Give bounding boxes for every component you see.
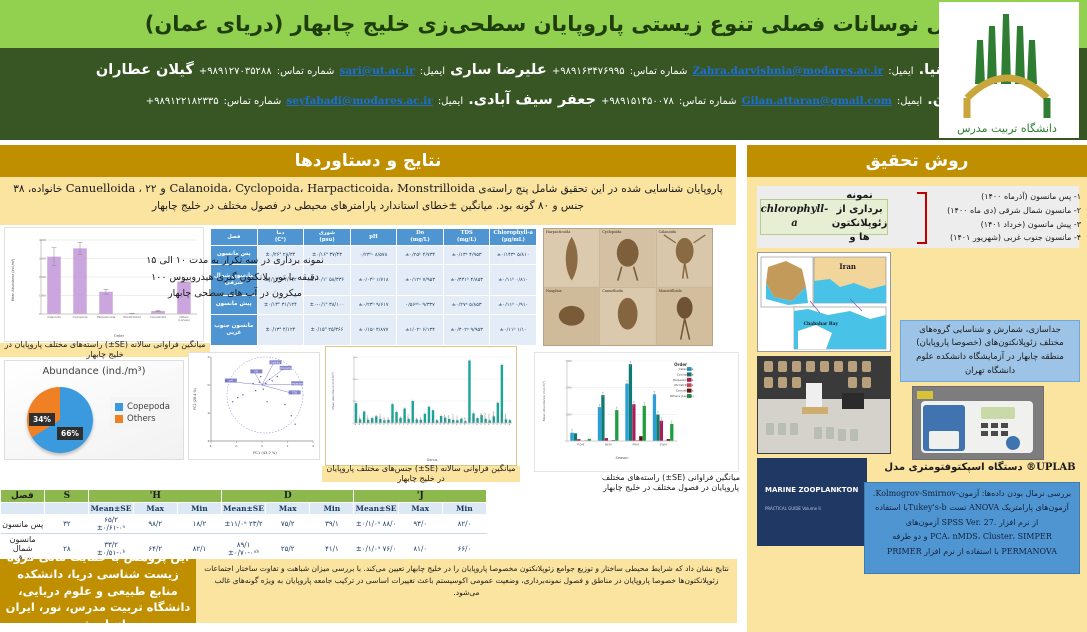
copepod-illustration-icon [600, 288, 655, 346]
table-row: ۱/۱۰ ±۰/۱۱ᵇ۹/۹۵۳ ±۰/۴۰۲ᵃ۶/۱۳۴ ±۱/۰۲ᶜ۴/۸۷… [211, 314, 537, 345]
copepod-micrograph-panel: Calanoida Cyclopoida Harpacticoida Mon [543, 228, 713, 346]
sampling-method-text: نمونه برداری در سه تکرار به مدت ۱۰ الی ۱… [140, 253, 330, 303]
svg-text:Candacia: Candacia [371, 418, 373, 425]
copepod-photo: Nauplius [544, 288, 599, 346]
pie-title: Abundance (ind./m³) [5, 366, 183, 377]
svg-text:Canuelloida: Canuelloida [150, 315, 166, 319]
lab-photo-svg [758, 357, 890, 453]
poster-root: تحلیل نوسانات فصلی تنوع زیستی پاروپایان … [0, 0, 1087, 632]
phone-label-3: شماره تماس: [679, 96, 737, 107]
copepod-illustration-icon [600, 229, 655, 287]
data-cell: ۳۲ [45, 515, 89, 534]
svg-text:2000: 2000 [566, 387, 573, 390]
column-sub-header: Min [177, 503, 221, 515]
copepod-photo: Calanoida [657, 229, 712, 287]
author-3-phone: ۹۸۹۱۵۱۴۵۰۰۷۸+ [601, 96, 674, 107]
svg-text:DO: DO [254, 370, 258, 373]
intro-orders-latin: Calanoida، Cyclopoida، Harpacticoida، Mo… [66, 181, 475, 195]
author-2-phone: ۹۸۹۱۲۷۰۳۵۲۸۸+ [199, 66, 272, 77]
author-4-name: جعفر سیف آبادی. [468, 92, 596, 108]
sampling-objective-text: نمونه برداری از زئوپلانکتون ها و [832, 189, 888, 245]
author-3-email[interactable]: Gilan.attaran@gmail.com [742, 95, 892, 107]
phone-label-1: شماره تماس: [630, 66, 688, 77]
data-cell: ۰/۹۱۰ ±۰/۱۱ᵇ [490, 296, 537, 315]
stats-software2-label: با استفاده از نرم افزار [924, 547, 999, 556]
author-2-name: علیرضا ساری [450, 62, 547, 78]
column-sub-header: Max [133, 503, 177, 515]
season-legend-title: Order [674, 362, 687, 367]
data-cell: ۹/۳۳۷ -۰/۵۶ᵃᵇ [397, 296, 444, 315]
svg-text:2: 2 [208, 355, 210, 359]
svg-text:Cyclopoida: Cyclopoida [73, 315, 88, 319]
svg-text:Harpacticoida: Harpacticoida [673, 378, 694, 382]
stats-test-label: تست [949, 503, 966, 512]
pca-svg: SalinityChlorophyllTemperatureTDSpHDO -4… [189, 353, 319, 459]
spectro-model: UPLAB® [1026, 462, 1075, 473]
season-item: ۲- مانسون شمال شرقی (دی ماه ۱۴۰۰) [931, 204, 1081, 218]
book-subtitle: PRACTICAL GUIDE Volume II [765, 506, 821, 511]
svg-text:Eucalanus: Eucalanus [387, 417, 389, 425]
svg-text:Nauplii: Nauplii [477, 419, 479, 425]
copepod-label: Nauplius [546, 289, 561, 293]
author-3-name: گیلان عطاران [96, 62, 194, 78]
column-sub-header: Max [266, 503, 310, 515]
data-cell: ۳۹/۱ [310, 515, 354, 534]
pca-xlabel: PC1 (43.2 %) [253, 451, 277, 455]
statistical-analysis-box: بررسی نرمال بودن داده‌ها: آزمون-Kolmogro… [864, 482, 1080, 574]
column-group-header: D [221, 490, 354, 503]
map-label-bay: Chabahar Bay [804, 322, 839, 327]
column-sub-header: Min [442, 503, 486, 515]
column-header: TDS(mg/L) [443, 229, 490, 246]
data-cell: ۵/۸۵۳ ±۰/۲۷ᵃ [443, 296, 490, 315]
data-cell: ۱/۱۰ ±۰/۱۱ᵇ [490, 314, 537, 345]
data-cell: ۱/۷۱۸ ±۰/۰۴ᵇ [350, 264, 397, 295]
svg-text:SWM: SWM [659, 443, 667, 447]
svg-text:-4: -4 [208, 439, 211, 443]
copepod-photo: Harpacticoida [544, 229, 599, 287]
stats-tukey: Tukey's-b [908, 501, 947, 515]
author-1-email[interactable]: Zahra.darvishnia@modares.ac.ir [692, 65, 883, 77]
copepod-illustration-icon [657, 229, 712, 287]
stats-twoway-label: و دو طرفه [892, 532, 927, 541]
discussion-box: نتایج نشان داد که شرایط محیطی ساختار و ت… [196, 559, 737, 623]
data-cell: ۷/۹۵۳ ±۰/۱۲ᵃ [397, 264, 444, 295]
author-1-phone: ۹۸۹۱۶۳۴۷۶۹۹۵+ [552, 66, 625, 77]
order-bar-caption: میانگین فراوانی سالانه (SE±) راسته‌های م… [0, 343, 210, 357]
stats-multivariate-tests: PCA، nMDS، Cluster، SIMPER [930, 530, 1052, 544]
data-cell: ۹/۹۵۳ ±۰/۴۰۲ᵃ [443, 314, 490, 345]
data-cell: ۹/۶۱۷ ±۰/۲۳ᵇ [350, 296, 397, 315]
svg-text:1500: 1500 [353, 357, 359, 359]
svg-text:Copilia: Copilia [436, 420, 438, 425]
copepod-photo: Canuelloida [600, 288, 655, 346]
author-2-email[interactable]: sari@ut.ac.ir [339, 65, 414, 77]
svg-text:pH: pH [229, 380, 233, 383]
stats-normality-test: Kolmogrov-Smirnov [875, 487, 955, 501]
svg-text:1000: 1000 [353, 379, 359, 381]
identification-method-box: جداسازی، شمارش و شناسایی گروه‌های مختلف … [900, 320, 1080, 382]
phone-label-4: شماره تماس: [224, 96, 282, 107]
legend-swatch-copepoda [115, 403, 123, 411]
svg-text:PRM: PRM [632, 443, 639, 447]
data-cell: ۴/۷۳۴ ±۰/۲۵ᵇ [397, 246, 444, 265]
data-cell: ۹۳/۰ [398, 515, 442, 534]
copepod-photo: Cyclopoida [600, 229, 655, 287]
data-cell: ۰/۸۱۰ ±۰/۱۱ᵇ [490, 264, 537, 295]
svg-text:Calanoida: Calanoida [679, 367, 694, 371]
data-cell: ۸۸/۰ ±۰/۱/۰ᵃ [354, 515, 398, 534]
genus-bar-svg: AcartiaAcrocalanusCalanopiaCalocalanusCa… [326, 347, 516, 465]
spectrophotometer-svg [913, 387, 1043, 459]
svg-text:Calocalanus: Calocalanus [367, 415, 369, 425]
spectrophotometer-caption: UPLAB® دستگاه اسپکتوفتومتری مدل [880, 462, 1080, 478]
data-cell: ۶/۱۳۴ ±۱/۰۲ᶜ [397, 314, 444, 345]
column-header: Chlorophyll-a(µg/mL) [490, 229, 537, 246]
legend-swatch-others [115, 415, 123, 423]
data-cell: ۹۸/۲ [133, 515, 177, 534]
pie-legend: Copepoda Others [110, 397, 175, 429]
svg-text:2: 2 [287, 444, 289, 448]
column-group-header: H' [89, 490, 222, 503]
legend-label-others: Others [127, 414, 156, 424]
email-label-4: ایمیل: [438, 96, 463, 107]
data-cell: ۴/۱۲۴ ±۰/۱۳ᵃ [257, 314, 304, 345]
svg-text:Longipedia: Longipedia [473, 416, 475, 425]
svg-text:1000: 1000 [566, 413, 573, 416]
copepod-illustration-icon [544, 229, 599, 287]
svg-text:-2: -2 [235, 444, 238, 448]
legend-item-others: Others [115, 414, 170, 424]
column-sub-header: Mean±SE [89, 503, 133, 515]
stats-primer: PRIMER [887, 545, 922, 559]
abundance-pie-chart: Abundance (ind./m³) 34% 66% Copepoda Oth… [4, 360, 184, 460]
seasons-list: ۱- پس مانسون (آذرماه ۱۴۰۰) ۲- مانسون شما… [931, 190, 1081, 245]
svg-text:Temperature: Temperature [290, 382, 306, 385]
book-title: MARINE ZOOPLANKTON [765, 486, 858, 495]
copepod-photo: Monstrilloida [657, 288, 712, 346]
svg-text:4: 4 [312, 444, 314, 448]
data-cell: ۴/۸۵۳ ±۰/۴۴۱ᵇ [443, 264, 490, 295]
svg-text:Cyclopoida: Cyclopoida [677, 372, 694, 376]
season-cell: مانسون جنوب غربی [211, 314, 258, 345]
genus-bar-ylabel: Mean abundance (ind./m³) [331, 372, 335, 409]
svg-text:Calanopia: Calanopia [363, 417, 365, 425]
logo-icon: دانشگاه تربیت مدرس [941, 6, 1073, 138]
copepod-illustration-icon [657, 288, 712, 346]
season-bar-xlabel: Season [615, 456, 628, 460]
svg-text:4000: 4000 [39, 238, 46, 242]
phone-label-2: شماره تماس: [277, 66, 335, 77]
pca-biplot-chart: SalinityChlorophyllTemperatureTDSpHDO -4… [188, 352, 320, 460]
svg-text:Monstrilloida: Monstrilloida [674, 383, 693, 387]
svg-text:دانشگاه تربیت مدرس: دانشگاه تربیت مدرس [957, 122, 1057, 135]
svg-text:Chlorophyll: Chlorophyll [279, 367, 293, 370]
season-item: ۳- پیش مانسون (خرداد ۱۴۰۱) [931, 218, 1081, 232]
svg-text:0: 0 [208, 383, 210, 387]
stats-anova: ANOVA [969, 501, 999, 515]
svg-text:Canuelloida: Canuelloida [676, 389, 694, 393]
map-label-iran: Iran [839, 262, 856, 271]
copepod-illustration-icon [544, 288, 599, 346]
study-area-map: Iran Chabahar Bay [757, 252, 891, 352]
svg-text:Calanoida: Calanoida [47, 315, 61, 319]
svg-text:TDS: TDS [292, 391, 297, 394]
table-header-row: Chlorophyll-a(µg/mL)TDS(mg/L)Do(mg/L)pHش… [211, 229, 537, 246]
svg-text:1000: 1000 [39, 294, 46, 298]
copepod-label: Monstrilloida [659, 289, 682, 293]
diversity-indices-table: J'DH'Sفصل MinMaxMean±SEMinMaxMean±SEMinM… [0, 489, 487, 557]
data-cell: ۸/۵۷۸ -۰/۲۳ᵇ [350, 246, 397, 265]
season-order-bar-chart: POMNEMPRMSWM 0100020003000 CalanoidaCycl… [534, 352, 739, 472]
svg-text:3000: 3000 [39, 257, 46, 261]
season-cell: پس مانسون [1, 515, 45, 534]
data-cell: ۴/۹۵۳ ±۰/۱۳ᵃ [443, 246, 490, 265]
order-bar-xlabel: Order [114, 334, 125, 338]
brace-connector [917, 192, 927, 244]
page-title: تحلیل نوسانات فصلی تنوع زیستی پاروپایان … [60, 4, 1070, 46]
column-group-header: فصل [1, 490, 45, 503]
laboratory-photo [757, 356, 891, 454]
data-cell: ۲۵/۳۶۶ ±۰/۱۵ᵈ [304, 314, 351, 345]
genus-bar-caption: میانگین فراوانی سالانه (SE±) جنس‌های مخت… [322, 466, 520, 482]
svg-text:Harpacticoida: Harpacticoida [97, 315, 116, 319]
column-header: Do(mg/L) [397, 229, 444, 246]
season-bar-caption: میانگین فراوانی (SE±) راسته‌های مختلف پا… [596, 472, 746, 494]
svg-text:3000: 3000 [566, 360, 573, 363]
authors-line-1: زهرا درویش نیا. ایمیل: Zahra.darvishnia@… [60, 62, 1070, 78]
table-row: ۸۲/۰۹۳/۰۸۸/۰ ±۰/۱/۰ᵃ۳۹/۱۷۵/۲۲۳/۲ ±۱۱/۰ᵃ۱… [1, 515, 487, 534]
author-4-email[interactable]: seyfabadi@modares.ac.ir [286, 95, 432, 107]
email-label-3: ایمیل: [897, 96, 922, 107]
column-sub-header: Mean±SE [354, 503, 398, 515]
copepod-label: Cyclopoida [602, 230, 621, 234]
stats-spss: SPSS Ver. 27. [942, 516, 997, 530]
copepod-label: Harpacticoida [546, 230, 570, 234]
copepod-label: Canuelloida [602, 289, 622, 293]
spectro-caption-text: دستگاه اسپکتوفتومتری مدل [884, 462, 1022, 473]
svg-text:Oncaea: Oncaea [428, 419, 430, 425]
data-cell: ۵/۸۱۰ ±۰/۱۴۳ᵃ [490, 246, 537, 265]
genus-abundance-bar-chart: AcartiaAcrocalanusCalanopiaCalocalanusCa… [325, 346, 517, 466]
sampling-objective-latin: chlorophyll-a [761, 203, 829, 231]
pie-label-others: 34% [29, 413, 55, 426]
column-group-header: J' [354, 490, 487, 503]
svg-text:-2: -2 [208, 411, 211, 415]
column-sub-header: Max [398, 503, 442, 515]
svg-text:NEM: NEM [605, 443, 612, 447]
email-label-1: ایمیل: [888, 66, 913, 77]
column-sub-header [1, 503, 45, 515]
stats-normality-label: بررسی نرمال بودن داده‌ها: آزمون- [956, 489, 1071, 498]
svg-text:(Larvae): (Larvae) [178, 318, 189, 322]
season-bar-ylabel: Mean Abundance (ind./m³) [542, 381, 546, 421]
svg-text:-4: -4 [210, 444, 213, 448]
svg-text:Monstrilloida: Monstrilloida [123, 315, 141, 319]
stats-permanova: PERMANOVA [1001, 545, 1057, 559]
results-section-header: نتایج و دستاوردها [0, 145, 736, 177]
table-group-header-row: J'DH'Sفصل [1, 490, 487, 503]
reference-book-cover: MARINE ZOOPLANKTON PRACTICAL GUIDE Volum… [757, 458, 867, 546]
data-cell: ۸۲/۰ [442, 515, 486, 534]
order-bar-ylabel: Mean Abundance (ind./m³) [11, 259, 15, 302]
university-logo: دانشگاه تربیت مدرس [939, 2, 1079, 138]
column-sub-header: Mean±SE [221, 503, 265, 515]
data-cell: ۲۳/۲ ±۱۱/۰ᵃ [221, 515, 265, 534]
svg-text:Fish eggs: Fish eggs [497, 417, 499, 425]
spectrophotometer-photo [912, 386, 1044, 460]
pie-label-copepoda: 66% [57, 427, 83, 440]
svg-text:Others (Larvae): Others (Larvae) [670, 394, 694, 398]
column-header: pH [350, 229, 397, 246]
sampling-objective-label: نمونه برداری از زئوپلانکتون ها و chlorop… [760, 199, 888, 235]
intro-paragraph: پاروپایان شناسایی شده در این تحقیق شامل … [0, 177, 736, 225]
column-sub-header: Min [310, 503, 354, 515]
data-cell: ۴/۸۷۷ ±۰/۱۵ᶜ [350, 314, 397, 345]
season-bar-svg: POMNEMPRMSWM 0100020003000 CalanoidaCycl… [535, 353, 738, 471]
acknowledgement-box: این پژوهش با حمایت مالی گروه زیست شناسی … [0, 559, 196, 623]
genus-bar-xlabel: Genus [427, 458, 438, 462]
data-cell: ۷۵/۲ [266, 515, 310, 534]
svg-text:Canuella: Canuella [468, 418, 470, 425]
column-header: فصل [211, 229, 258, 246]
svg-text:2000: 2000 [39, 275, 46, 279]
season-item: ۱- پس مانسون (آذرماه ۱۴۰۰) [931, 190, 1081, 204]
stats-tests-label: آزمون‌های [906, 518, 939, 527]
season-item: ۴- مانسون جنوب غربی (شهریور ۱۴۰۱) [931, 231, 1081, 245]
author-4-phone: ۹۸۹۱۲۲۱۸۲۳۳۵+ [146, 96, 219, 107]
legend-item-copepoda: Copepoda [115, 402, 170, 412]
email-label-2: ایمیل: [420, 66, 445, 77]
data-cell: ۶۵/۲ ±۰/۶۱-۰ᵃ [89, 515, 133, 534]
column-sub-header [45, 503, 89, 515]
svg-text:Salinity: Salinity [271, 361, 280, 364]
method-section-header: روش تحقیق [747, 145, 1087, 177]
column-group-header: S [45, 490, 89, 503]
intro-part1: پاروپایان شناسایی شده در این تحقیق شامل … [478, 183, 722, 195]
legend-label-copepoda: Copepoda [127, 402, 170, 412]
column-header: دما(°C) [257, 229, 304, 246]
data-cell: ۱۸/۲ [177, 515, 221, 534]
column-header: شوری(psu) [304, 229, 351, 246]
authors-line-2: فریمان. ایمیل: Gilan.attaran@gmail.com ش… [60, 92, 1070, 108]
svg-text:0: 0 [261, 444, 263, 448]
copepod-label: Calanoida [659, 230, 676, 234]
pca-ylabel: PC2 (28.4 %) [193, 387, 197, 410]
map-svg: Iran Chabahar Bay [758, 253, 890, 351]
svg-text:POM: POM [577, 443, 584, 447]
table-sub-header-row: MinMaxMean±SEMinMaxMean±SEMinMaxMean±SE [1, 503, 487, 515]
